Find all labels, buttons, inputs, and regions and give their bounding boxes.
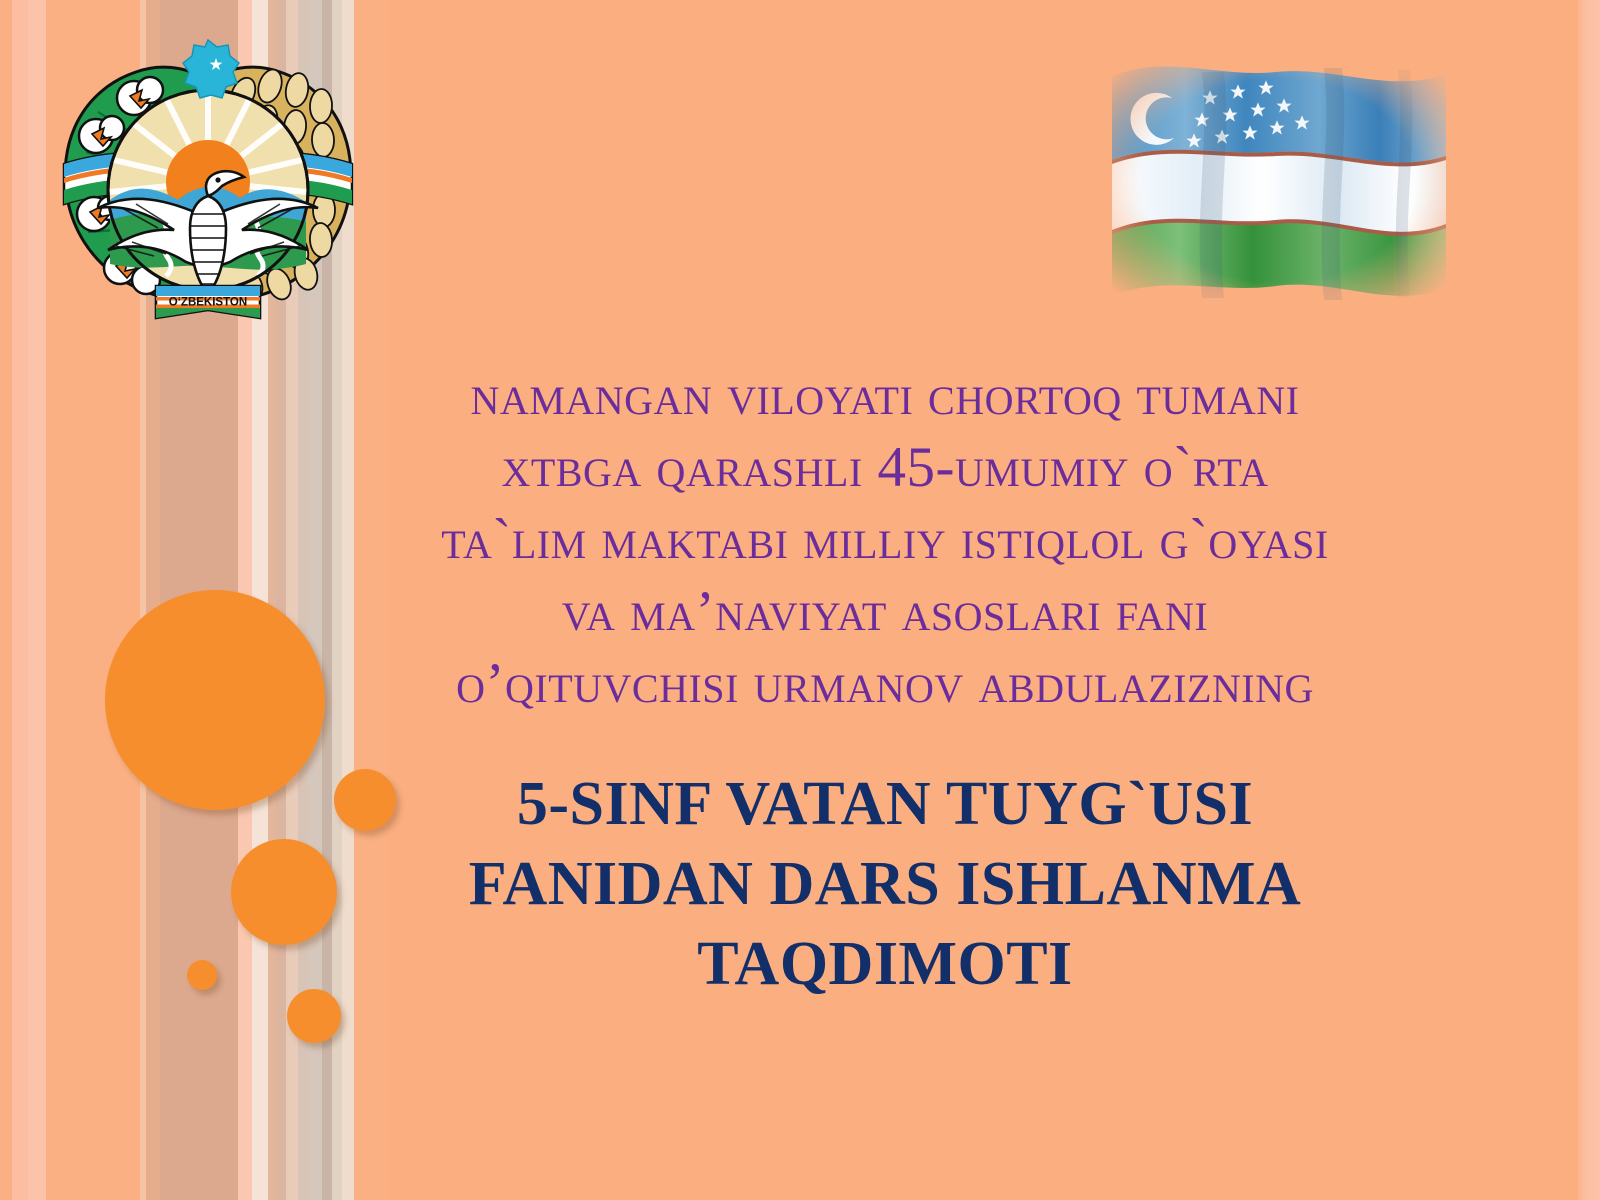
subtitle-line-2: XTBga qarashli 45-umumiy o`rta [330, 432, 1440, 504]
title-line-3: TAQDIMOTI [330, 924, 1440, 1004]
subtitle-line-3: ta`lim maktabi Milliy istiqlol g`oyasi [330, 504, 1440, 576]
subtitle-line-1: Namangan viloyati Chortoq tumani [330, 360, 1440, 432]
stripe-1 [12, 0, 28, 1200]
slide-text-block: Namangan viloyati Chortoq tumani XTBga q… [330, 360, 1440, 1004]
slide-subtitle: Namangan viloyati Chortoq tumani XTBga q… [330, 360, 1440, 720]
circle-medium [231, 839, 337, 945]
presentation-slide: O‘ZBEKISTON [0, 0, 1600, 1200]
subtitle-line-5: o’qituvchisi Urmanov Abdulazizning [330, 648, 1440, 720]
title-line-1: 5-SINF VATAN TUYG`USI [330, 764, 1440, 844]
uzbekistan-flag-icon [1098, 48, 1458, 313]
uzbekistan-coat-of-arms-icon: O‘ZBEKISTON [38, 32, 378, 322]
right-edge-stripe [1578, 0, 1600, 1200]
circle-tiny [187, 960, 217, 990]
slide-main-title: 5-SINF VATAN TUYG`USI FANIDAN DARS ISHLA… [330, 764, 1440, 1004]
emblem-ribbon-text: O‘ZBEKISTON [169, 297, 247, 309]
title-line-2: FANIDAN DARS ISHLANMA [330, 844, 1440, 924]
circle-large [105, 590, 325, 810]
subtitle-line-4: va ma’naviyat asoslari fani [330, 576, 1440, 648]
stripe-0 [0, 0, 12, 1200]
